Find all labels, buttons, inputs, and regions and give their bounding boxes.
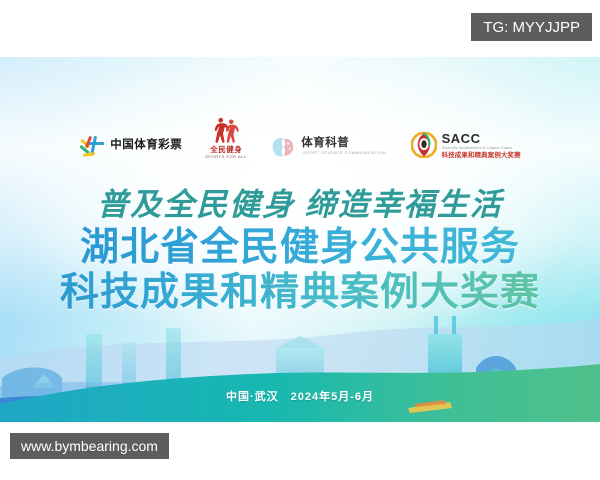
watermark-top-right: TG: MYYJJPP [471,13,592,41]
poster-title-block: 湖北省全民健身公共服务 科技成果和精典案例大奖赛 [0,225,600,315]
logo-china-sports-lottery: 中国体育彩票 [79,133,182,159]
sports-for-all-figures-icon [211,115,241,145]
logo-label-cn: 体育科普 [301,138,349,150]
watermark-bottom-left: www.bymbearing.com [10,433,169,459]
logo-label-cn: 全民健身 [210,146,242,154]
logo-sacc: SACC Scientific Achievement & Classic Ca… [411,132,521,160]
logo-sports-for-all: 全民健身 SPORTS FOR ALL [204,115,248,159]
logo-label-en: SACC [442,132,521,145]
sacc-emblem-icon [411,132,437,158]
sponsor-logo-row: 中国体育彩票 全民健身 SPORTS FOR ALL [0,97,600,159]
poster-date-location: 中国·武汉 2024年5月-6月 [0,388,600,404]
poster-slogan: 普及全民健身 缔造幸福生活 [0,179,600,224]
logo-sport-science-communication: 体育科普 SPORT SCIENCE COMMUNICATION [270,135,388,159]
lottery-sticks-icon [79,133,105,159]
sport-science-brain-icon [270,135,296,159]
poster-image: 中国体育彩票 全民健身 SPORTS FOR ALL [0,57,600,422]
logo-label-en: SPORT SCIENCE COMMUNICATION [303,151,386,155]
logo-label-en-sub: Scientific Achievement & Classic Cases [442,147,521,151]
logo-label-cn: 科技成果和精典案例大奖赛 [442,153,521,159]
logo-label-en: SPORTS FOR ALL [205,155,247,159]
logo-label-cn: 中国体育彩票 [110,140,182,152]
poster-title-line-2: 科技成果和精典案例大奖赛 [0,270,600,315]
poster-title-line-1: 湖北省全民健身公共服务 [0,225,600,270]
